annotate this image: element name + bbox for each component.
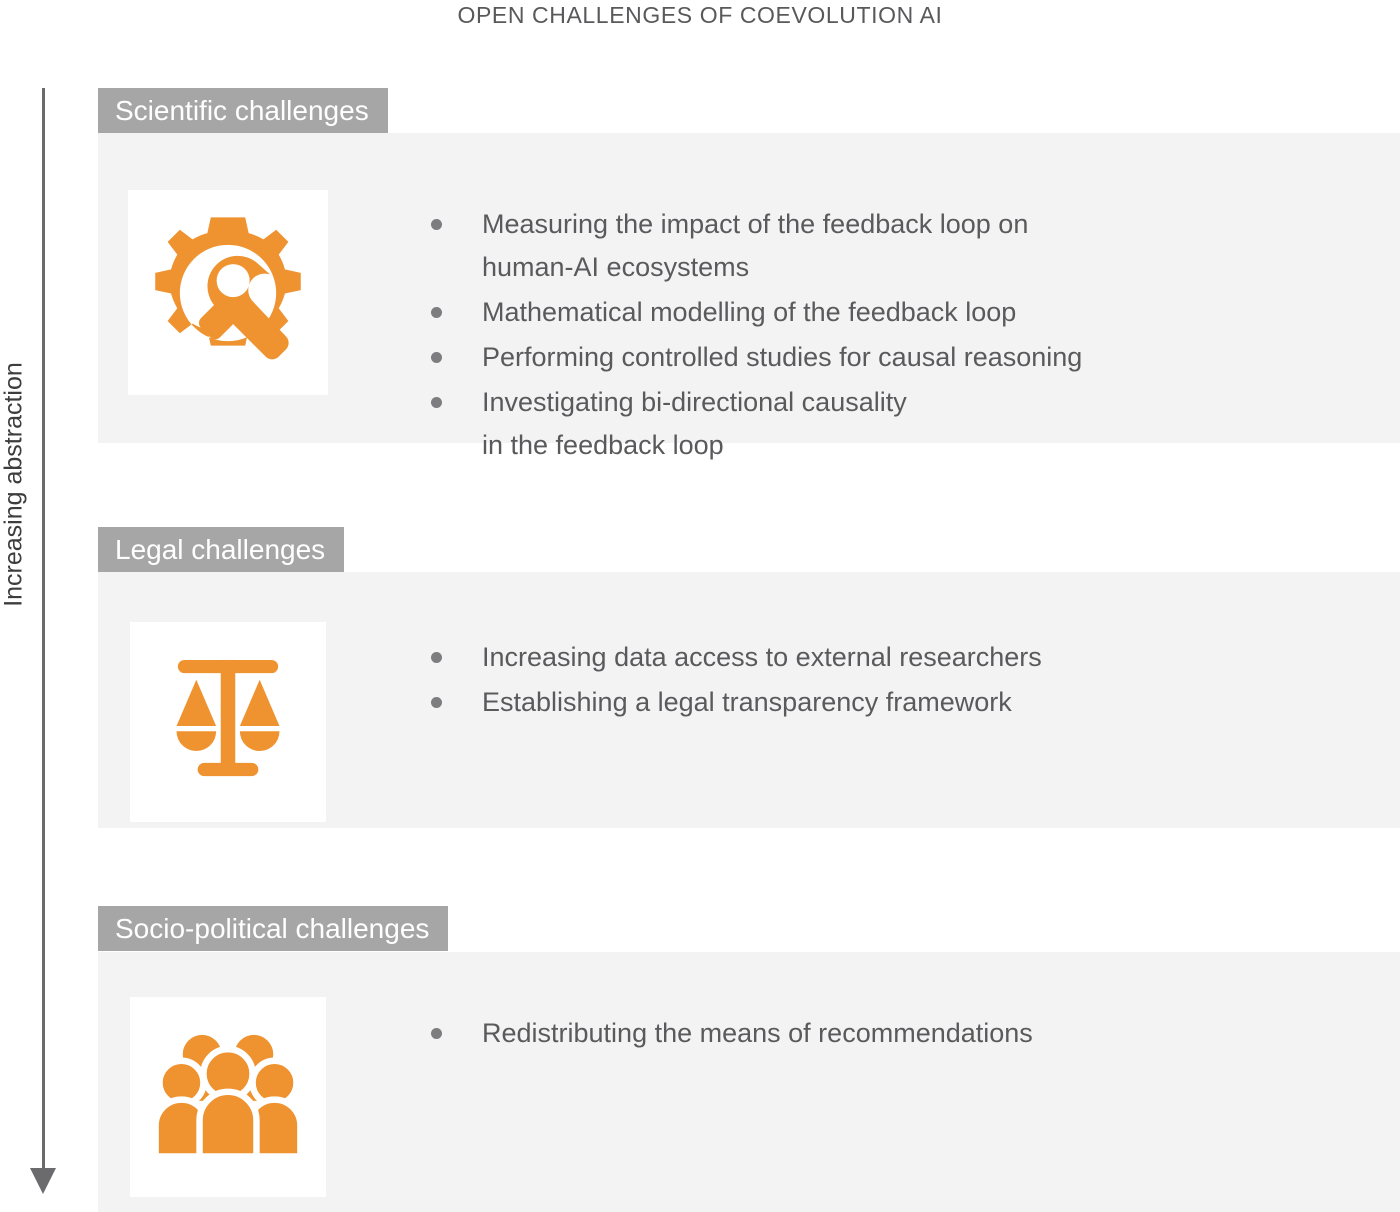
bullet-text: Mathematical modelling of the feedback l… xyxy=(482,291,1361,334)
bullet-dot-icon xyxy=(431,652,442,663)
section-header-socio: Socio-political challenges xyxy=(98,906,448,951)
section-header-scientific: Scientific challenges xyxy=(98,88,388,133)
bullet-text: Increasing data access to external resea… xyxy=(482,636,1361,679)
list-item: Establishing a legal transparency framew… xyxy=(431,681,1361,724)
icon-tile-legal xyxy=(130,622,326,822)
section-panel-legal: Increasing data access to external resea… xyxy=(98,572,1400,828)
list-item: Measuring the impact of the feedback loo… xyxy=(431,203,1361,289)
bullet-dot-icon xyxy=(431,1028,442,1039)
section-header-legal: Legal challenges xyxy=(98,527,344,572)
bullet-dot-icon xyxy=(431,397,442,408)
bullet-dot-icon xyxy=(431,352,442,363)
axis-label: Increasing abstraction xyxy=(0,265,29,705)
icon-tile-socio xyxy=(130,997,326,1197)
challenge-sections: Scientific challenges Measuring t xyxy=(98,0,1400,1212)
section-panel-socio: Redistributing the means of recommendati… xyxy=(98,952,1400,1212)
down-arrow-icon xyxy=(30,1168,56,1194)
list-item: Investigating bi-directional causality i… xyxy=(431,381,1361,467)
axis-line xyxy=(42,88,45,1172)
bullet-text: Investigating bi-directional causality i… xyxy=(482,381,1361,467)
bullet-text: Measuring the impact of the feedback loo… xyxy=(482,203,1361,289)
list-item: Mathematical modelling of the feedback l… xyxy=(431,291,1361,334)
scales-of-justice-icon xyxy=(162,652,294,792)
bullet-list-legal: Increasing data access to external resea… xyxy=(431,636,1361,726)
icon-tile-scientific xyxy=(128,190,328,395)
bullet-dot-icon xyxy=(431,697,442,708)
list-item: Performing controlled studies for causal… xyxy=(431,336,1361,379)
group-of-people-icon xyxy=(153,1032,303,1162)
bullet-list-socio: Redistributing the means of recommendati… xyxy=(431,1012,1361,1057)
gear-wrench-icon xyxy=(142,207,314,379)
bullet-text: Establishing a legal transparency framew… xyxy=(482,681,1361,724)
list-item: Increasing data access to external resea… xyxy=(431,636,1361,679)
bullet-dot-icon xyxy=(431,219,442,230)
list-item: Redistributing the means of recommendati… xyxy=(431,1012,1361,1055)
bullet-text: Performing controlled studies for causal… xyxy=(482,336,1361,379)
bullet-dot-icon xyxy=(431,307,442,318)
bullet-text: Redistributing the means of recommendati… xyxy=(482,1012,1361,1055)
bullet-list-scientific: Measuring the impact of the feedback loo… xyxy=(431,203,1361,469)
section-panel-scientific: Measuring the impact of the feedback loo… xyxy=(98,133,1400,443)
